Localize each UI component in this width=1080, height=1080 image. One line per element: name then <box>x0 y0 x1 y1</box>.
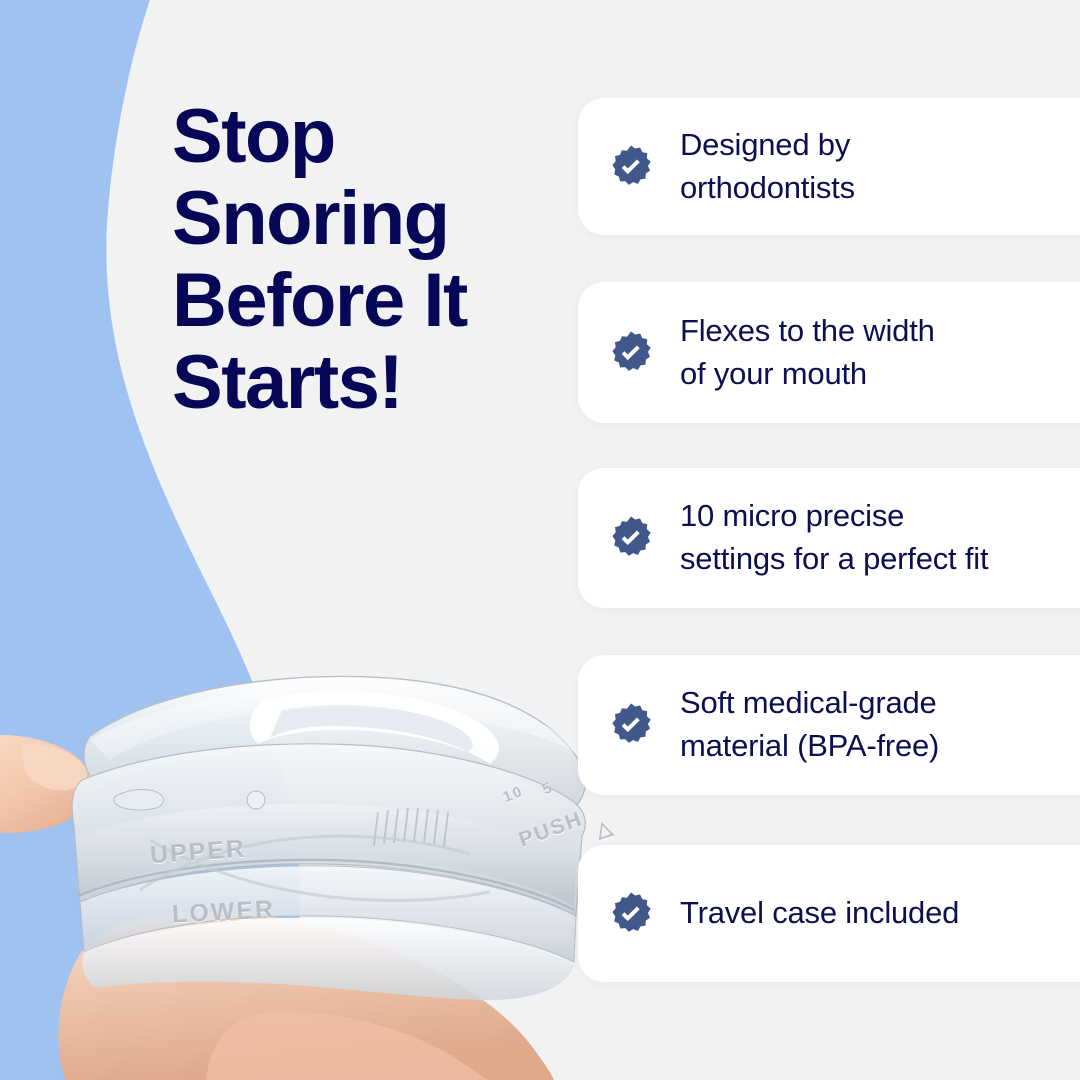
page-headline: Stop Snoring Before It Starts! <box>172 96 572 424</box>
check-badge-icon <box>608 144 654 190</box>
feature-card[interactable]: Travel case included <box>578 845 1080 982</box>
check-badge-icon <box>608 515 654 561</box>
feature-text: Flexes to the width of your mouth <box>680 310 935 396</box>
poster-canvas: Stop Snoring Before It Starts! <box>0 0 1080 1080</box>
feature-card[interactable]: Soft medical-grade material (BPA-free) <box>578 655 1080 795</box>
feature-card[interactable]: Flexes to the width of your mouth <box>578 282 1080 423</box>
product-image <box>0 640 650 1080</box>
check-badge-icon <box>608 330 654 376</box>
feature-text: 10 micro precise settings for a perfect … <box>680 495 988 581</box>
feature-text: Soft medical-grade material (BPA-free) <box>680 682 939 768</box>
feature-text: Travel case included <box>680 892 959 935</box>
feature-card[interactable]: 10 micro precise settings for a perfect … <box>578 468 1080 608</box>
check-badge-icon <box>608 891 654 937</box>
feature-text: Designed by orthodontists <box>680 124 855 210</box>
feature-card[interactable]: Designed by orthodontists <box>578 98 1080 235</box>
check-badge-icon <box>608 702 654 748</box>
